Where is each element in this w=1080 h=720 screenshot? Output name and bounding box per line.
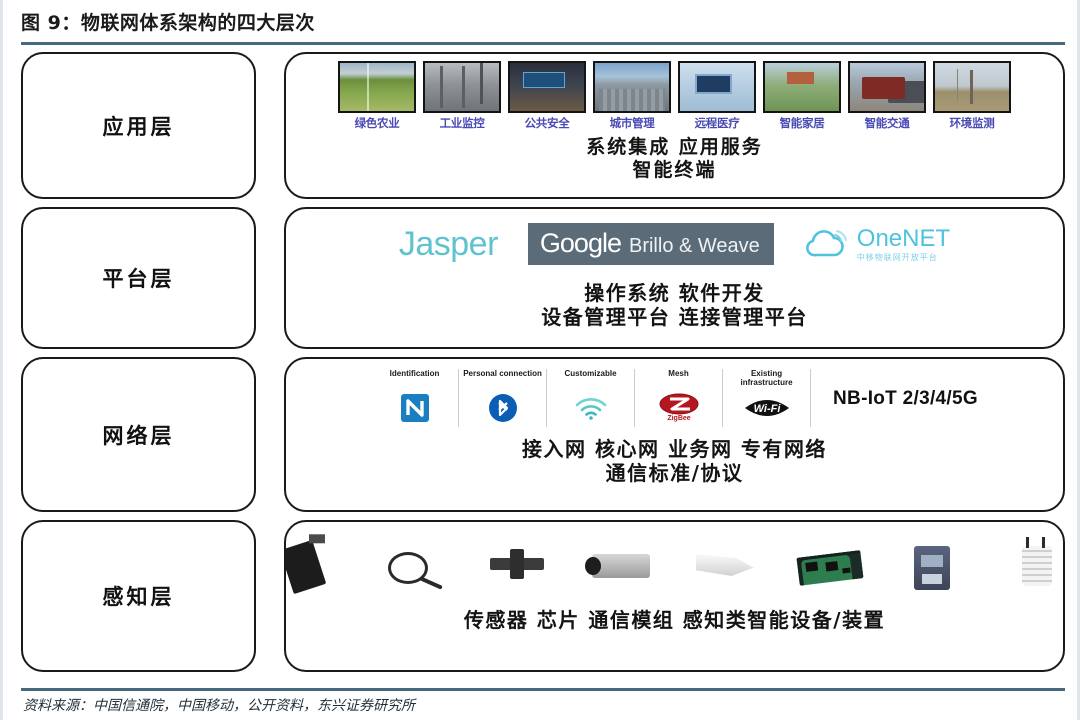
layer-body-application: 绿色农业 工业监控 公共安全 城市管理 — [284, 52, 1065, 199]
farm-thumbnail — [338, 61, 416, 113]
zigbee-icon: ZigBee — [657, 392, 701, 424]
network-line-2: 通信标准/协议 — [522, 461, 827, 485]
layer-row-perception: 感知层 传感器 芯片 通信模组 感知类智能设备/装置 — [3, 520, 1080, 672]
application-item-caption: 智能家居 — [780, 115, 825, 131]
layer-row-platform: 平台层 Jasper Google Brillo & Weave — [3, 207, 1080, 349]
application-item: 城市管理 — [592, 61, 673, 131]
device-item — [284, 538, 346, 596]
telemedicine-thumbnail — [678, 61, 756, 113]
layer-label-text: 平台层 — [103, 263, 175, 293]
footer-divider — [21, 688, 1065, 691]
circuit-board — [796, 550, 863, 586]
application-item-caption: 工业监控 — [440, 115, 485, 131]
figure-page: 图 9：物联网体系架构的四大层次 应用层 绿色农业 工业监控 — [0, 0, 1080, 720]
title-divider — [21, 42, 1065, 45]
layer-label-application: 应用层 — [21, 52, 256, 199]
smart-transport-thumbnail — [848, 61, 926, 113]
security-camera — [592, 554, 650, 578]
page-title: 图 9：物联网体系架构的四大层次 — [21, 8, 1065, 35]
device-item — [380, 538, 450, 596]
platform-layer-description: 操作系统 软件开发 设备管理平台 连接管理平台 — [541, 281, 807, 330]
application-item: 工业监控 — [422, 61, 503, 131]
onenet-wordmark-block: OneNET 中移物联网开放平台 — [857, 227, 950, 262]
layer-label-network: 网络层 — [21, 357, 256, 512]
device-item — [796, 538, 866, 596]
layer-body-perception: 传感器 芯片 通信模组 感知类智能设备/装置 — [284, 520, 1065, 672]
platform-line-2: 设备管理平台 连接管理平台 — [541, 305, 807, 329]
google-wordmark: Google — [540, 228, 621, 259]
layer-label-text: 感知层 — [103, 581, 175, 611]
application-item: 智能交通 — [847, 61, 928, 131]
onenet-logo: OneNET 中移物联网开放平台 — [804, 227, 950, 262]
network-tech-caption: Mesh — [668, 369, 688, 389]
application-line-2: 智能终端 — [586, 159, 763, 182]
industrial-monitor-thumbnail — [423, 61, 501, 113]
google-brillo-weave-logo: Google Brillo & Weave — [528, 223, 774, 265]
weather-station-sensor — [1022, 546, 1052, 586]
device-item — [692, 538, 762, 596]
mechanical-module — [490, 558, 544, 570]
jasper-logo: Jasper — [399, 225, 498, 264]
application-item-caption: 城市管理 — [610, 115, 655, 131]
bluetooth-icon — [488, 392, 518, 424]
nfc-icon — [400, 392, 430, 424]
layer-label-text: 网络层 — [103, 420, 175, 450]
application-item-caption: 绿色农业 — [355, 115, 400, 131]
device-item — [588, 538, 658, 596]
device-item — [900, 538, 970, 596]
onenet-wordmark: OneNET — [857, 227, 950, 251]
application-item-caption: 智能交通 — [865, 115, 910, 131]
application-item-caption: 远程医疗 — [695, 115, 740, 131]
network-tech-caption: Identification — [390, 369, 440, 389]
perception-device-strip — [284, 536, 1065, 598]
device-item — [484, 538, 554, 596]
layer-body-network: Identification Personal connection — [284, 357, 1065, 512]
application-item-caption: 环境监测 — [950, 115, 995, 131]
svg-text:ZigBee: ZigBee — [667, 415, 690, 422]
figure-title-bar: 图 9：物联网体系架构的四大层次 — [21, 8, 1065, 44]
layer-body-platform: Jasper Google Brillo & Weave OneNET — [284, 207, 1065, 349]
network-tech-caption: Customizable — [565, 369, 617, 389]
network-tech-item: Identification — [371, 369, 459, 427]
device-item — [1004, 538, 1066, 596]
application-item: 远程医疗 — [677, 61, 758, 131]
wifi-logo-icon: Wi-Fi — [741, 392, 793, 424]
network-tech-item: Customizable — [547, 369, 635, 427]
brillo-weave-text: Brillo & Weave — [629, 235, 760, 258]
cloud-icon — [804, 228, 850, 260]
network-tech-caption: Existing infrastructure — [727, 369, 806, 389]
network-tech-item: Mesh ZigBee — [635, 369, 723, 427]
application-item: 公共安全 — [507, 61, 588, 131]
smart-home-thumbnail — [763, 61, 841, 113]
onenet-subtext: 中移物联网开放平台 — [857, 254, 950, 262]
network-tech-item: Personal connection — [459, 369, 547, 427]
environment-monitor-thumbnail — [933, 61, 1011, 113]
network-tech-caption: Personal connection — [463, 369, 542, 389]
black-sensor-device — [284, 540, 326, 594]
layer-row-application: 应用层 绿色农业 工业监控 公共安全 — [3, 52, 1080, 199]
source-note: 资料来源：中国信通院，中国移动，公开资料，东兴证券研究所 — [23, 695, 415, 715]
application-item: 环境监测 — [932, 61, 1013, 131]
perception-layer-description: 传感器 芯片 通信模组 感知类智能设备/装置 — [464, 608, 885, 632]
platform-line-1: 操作系统 软件开发 — [541, 281, 807, 305]
perception-line-1: 传感器 芯片 通信模组 感知类智能设备/装置 — [464, 608, 885, 632]
wireless-wave-icon — [573, 392, 609, 424]
network-technology-strip: Identification Personal connection — [371, 369, 978, 429]
layer-label-platform: 平台层 — [21, 207, 256, 349]
application-item: 智能家居 — [762, 61, 843, 131]
public-safety-thumbnail — [508, 61, 586, 113]
city-management-thumbnail — [593, 61, 671, 113]
network-layer-description: 接入网 核心网 业务网 专有网络 通信标准/协议 — [522, 437, 827, 486]
cable-connector — [388, 552, 428, 584]
field-device-box — [914, 546, 950, 590]
platform-logo-strip: Jasper Google Brillo & Weave OneNET — [399, 221, 950, 267]
svg-text:Wi-Fi: Wi-Fi — [753, 403, 781, 415]
network-tech-item: Existing infrastructure Wi-Fi — [723, 369, 811, 427]
application-layer-description: 系统集成 应用服务 智能终端 — [586, 136, 763, 182]
layer-row-network: 网络层 Identification Personal — [3, 357, 1080, 512]
application-item-caption: 公共安全 — [525, 115, 570, 131]
iot-architecture-diagram: 应用层 绿色农业 工业监控 公共安全 — [3, 52, 1080, 680]
application-line-1: 系统集成 应用服务 — [586, 136, 763, 159]
application-thumbnail-strip: 绿色农业 工业监控 公共安全 城市管理 — [337, 61, 1013, 131]
white-probe-sensor — [696, 554, 754, 576]
network-line-1: 接入网 核心网 业务网 专有网络 — [522, 437, 827, 461]
layer-label-perception: 感知层 — [21, 520, 256, 672]
application-item: 绿色农业 — [337, 61, 418, 131]
layer-label-text: 应用层 — [103, 111, 175, 141]
cellular-standards-label: NB-IoT 2/3/4/5G — [833, 388, 978, 410]
